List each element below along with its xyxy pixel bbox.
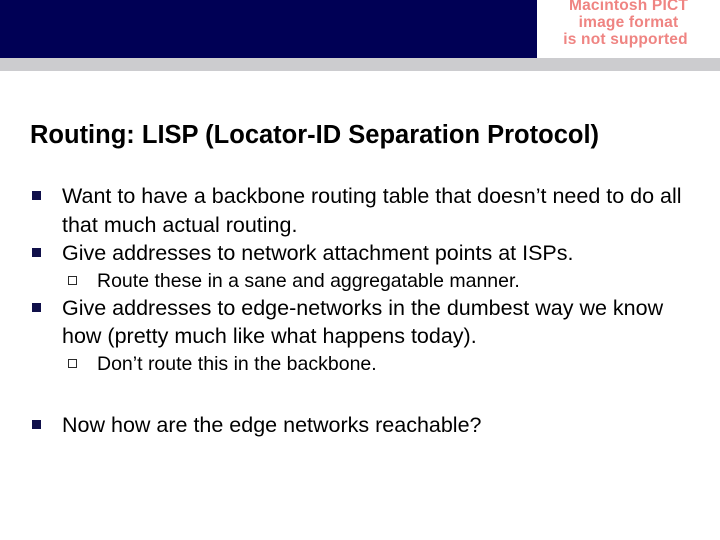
list-item-label: Now how are the edge networks reachable? (62, 411, 702, 440)
pict-warning-line-1: Macintosh PICT (537, 0, 720, 14)
list-item: Want to have a backbone routing table th… (0, 182, 720, 239)
pict-warning-line-2: image format (537, 14, 720, 31)
list-item-label: Give addresses to network attachment poi… (62, 239, 702, 268)
bullet-list: Want to have a backbone routing table th… (0, 182, 720, 439)
list-item: Now how are the edge networks reachable? (0, 411, 720, 440)
list-item-label: Route these in a sane and aggregatable m… (97, 268, 702, 294)
list-item-label: Want to have a backbone routing table th… (62, 182, 702, 239)
page-title: Routing: LISP (Locator-ID Separation Pro… (30, 120, 700, 150)
hollow-square-bullet-icon (68, 276, 77, 285)
hollow-square-bullet-icon (68, 359, 77, 368)
pict-warning-line-3: is not supported (531, 31, 720, 48)
list-item: Don’t route this in the backbone. (0, 351, 720, 377)
pict-unsupported-placeholder: Macintosh PICT image format is not suppo… (537, 0, 720, 58)
filled-square-bullet-icon (32, 248, 41, 257)
filled-square-bullet-icon (32, 420, 41, 429)
filled-square-bullet-icon (32, 191, 41, 200)
list-item-label: Give addresses to edge-networks in the d… (62, 294, 702, 351)
list-item: Give addresses to edge-networks in the d… (0, 294, 720, 351)
list-item: Give addresses to network attachment poi… (0, 239, 720, 268)
header-divider-rule (0, 58, 720, 71)
header-banner (0, 0, 537, 58)
list-item: Route these in a sane and aggregatable m… (0, 268, 720, 294)
filled-square-bullet-icon (32, 303, 41, 312)
presentation-slide: Macintosh PICT image format is not suppo… (0, 0, 720, 540)
list-item-label: Don’t route this in the backbone. (97, 351, 702, 377)
